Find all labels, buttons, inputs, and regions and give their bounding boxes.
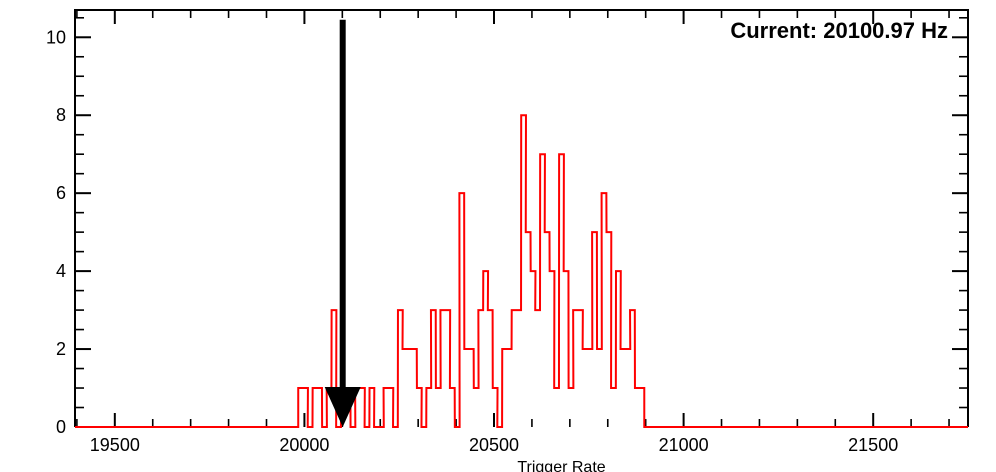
y-tick-label: 8 <box>56 105 66 125</box>
histogram-outline[interactable] <box>75 115 968 427</box>
y-axis-tick-labels: 0246810 <box>46 27 66 437</box>
y-tick-label: 4 <box>56 261 66 281</box>
x-axis-title: Trigger Rate <box>517 459 605 472</box>
current-rate-readout: Current: 20100.97 Hz <box>730 18 948 43</box>
current-rate-arrow <box>325 20 361 427</box>
x-tick-label: 19500 <box>90 435 140 455</box>
y-tick-label: 6 <box>56 183 66 203</box>
histogram-plot[interactable]: 0246810 1950020000205002100021500 Trigge… <box>0 0 996 472</box>
x-axis-ticks <box>77 10 949 427</box>
y-tick-label: 2 <box>56 339 66 359</box>
y-tick-label: 10 <box>46 27 66 47</box>
histogram-series[interactable] <box>75 115 968 427</box>
x-tick-label: 21000 <box>659 435 709 455</box>
x-tick-label: 21500 <box>848 435 898 455</box>
x-tick-label: 20000 <box>279 435 329 455</box>
x-tick-label: 20500 <box>469 435 519 455</box>
x-axis-tick-labels: 1950020000205002100021500 <box>90 435 898 455</box>
y-tick-label: 0 <box>56 417 66 437</box>
root-histogram-canvas: 0246810 1950020000205002100021500 Trigge… <box>0 0 996 472</box>
